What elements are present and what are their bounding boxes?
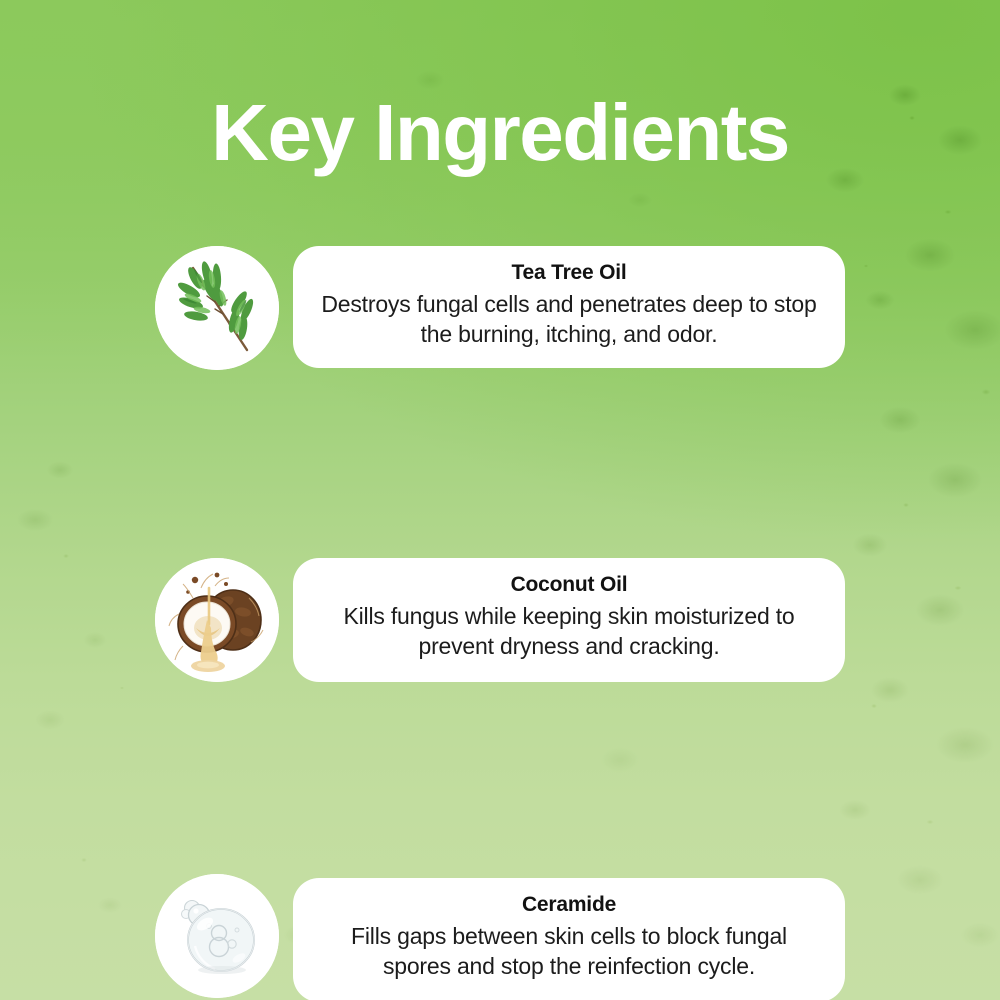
list-item: Tea Tree Oil Destroys fungal cells and p… <box>0 244 1000 402</box>
ingredient-card: Tea Tree Oil Destroys fungal cells and p… <box>293 246 845 368</box>
ingredient-description: Destroys fungal cells and penetrates dee… <box>315 290 823 350</box>
ingredient-list: Tea Tree Oil Destroys fungal cells and p… <box>0 244 1000 848</box>
ingredient-card: Ceramide Fills gaps between skin cells t… <box>293 878 845 1000</box>
ingredient-description: Fills gaps between skin cells to block f… <box>315 922 823 982</box>
list-item: Witch Hazel Natural humectant that locks… <box>0 718 1000 848</box>
key-ingredients-poster: Key Ingredients <box>0 0 1000 1000</box>
tea-tree-sprig-icon <box>155 246 279 370</box>
ingredient-name: Ceramide <box>315 892 823 918</box>
ingredient-name: Tea Tree Oil <box>315 260 823 286</box>
list-item: Coconut Oil Kills fungus while keeping s… <box>0 402 1000 560</box>
list-item: Ceramide Fills gaps between skin cells t… <box>0 560 1000 718</box>
page-title: Key Ingredients <box>0 93 1000 173</box>
ceramide-droplet-icon <box>155 874 279 998</box>
